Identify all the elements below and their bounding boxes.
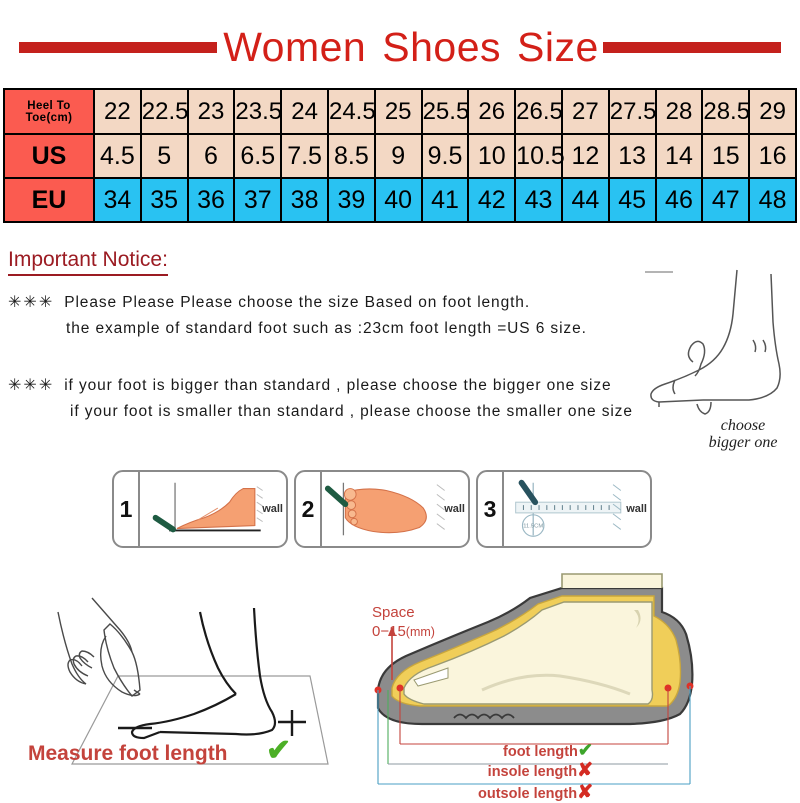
measurement-steps: 1 wall 2 <box>112 470 652 548</box>
space-label-line-1: Space <box>372 604 435 623</box>
cell-us-5: 8.5 <box>328 134 375 178</box>
cell-eu-8: 42 <box>468 178 515 222</box>
insole-length-label: insole length <box>488 764 577 780</box>
page-title-row: WomenShoesSize <box>0 22 800 72</box>
cell-eu-14: 48 <box>749 178 796 222</box>
step-box-1: 1 wall <box>112 470 288 548</box>
ruler-value-label: 11.5CM <box>523 523 543 529</box>
notice-bullet-icon: ✳✳✳ <box>8 294 54 311</box>
outsole-length-label: outsole length <box>478 786 577 802</box>
cell-eu-0: 34 <box>94 178 141 222</box>
cell-us-6: 9 <box>375 134 422 178</box>
step-3-wall-label: wall <box>626 503 647 515</box>
step-number-3: 3 <box>478 472 504 546</box>
measure-foot-length-label: Measure foot length <box>28 742 228 766</box>
cell-us-4: 7.5 <box>281 134 328 178</box>
cell-cm-8: 26 <box>468 89 515 134</box>
cell-us-9: 10.5 <box>515 134 562 178</box>
cell-cm-0: 22 <box>94 89 141 134</box>
cell-eu-1: 35 <box>141 178 188 222</box>
cell-eu-2: 36 <box>188 178 235 222</box>
cell-us-12: 14 <box>656 134 703 178</box>
cell-us-13: 15 <box>702 134 749 178</box>
table-row-eu: EU 34 35 36 37 38 39 40 41 42 43 44 45 4… <box>4 178 796 222</box>
cell-cm-4: 24 <box>281 89 328 134</box>
cell-us-8: 10 <box>468 134 515 178</box>
space-label-line-2: 0−15 <box>372 623 406 640</box>
row-header-us: US <box>4 134 94 178</box>
title-word-size: Size <box>517 24 599 70</box>
step-2-wall-label: wall <box>444 503 465 515</box>
cell-cm-7: 25.5 <box>422 89 469 134</box>
caption-line-1: choose <box>688 418 798 435</box>
table-row-heel-to-toe: Heel To Toe(cm) 22 22.5 23 23.5 24 24.5 … <box>4 89 796 134</box>
notice-block-2: ✳✳✳if your foot is bigger than standard … <box>8 375 633 429</box>
caption-line-2: bigger one <box>688 435 798 452</box>
cell-cm-3: 23.5 <box>234 89 281 134</box>
step-number-1: 1 <box>114 472 140 546</box>
title-accent-bar-right <box>603 42 781 53</box>
title-word-women: Women <box>223 24 366 70</box>
cell-eu-11: 45 <box>609 178 656 222</box>
cell-cm-11: 27.5 <box>609 89 656 134</box>
notice-text-1: Please Please Please choose the size Bas… <box>64 294 530 311</box>
title-word-shoes: Shoes <box>382 24 501 70</box>
space-unit: (mm) <box>406 625 435 639</box>
cell-cm-2: 23 <box>188 89 235 134</box>
insole-length-cross-icon: ✘ <box>577 760 593 781</box>
shoe-length-labels: foot length✔ insole length✘ outsole leng… <box>478 740 593 803</box>
cell-us-11: 13 <box>609 134 656 178</box>
notice-line-2: the example of standard foot such as :23… <box>8 320 587 338</box>
notice-line-3: ✳✳✳if your foot is bigger than standard … <box>8 375 633 395</box>
page-title: WomenShoesSize <box>223 24 599 71</box>
notice-line-1: ✳✳✳Please Please Please choose the size … <box>8 292 587 312</box>
step-1-wall-label: wall <box>262 503 283 515</box>
foot-sketch-caption: choose bigger one <box>688 418 798 452</box>
table-row-us: US 4.5 5 6 6.5 7.5 8.5 9 9.5 10 10.5 12 … <box>4 134 796 178</box>
title-accent-bar-left <box>19 42 217 53</box>
step-1-illustration: wall <box>140 472 286 546</box>
cell-eu-3: 37 <box>234 178 281 222</box>
space-gap-label: Space 0−15(mm) <box>372 604 435 642</box>
cell-eu-9: 43 <box>515 178 562 222</box>
cell-eu-7: 41 <box>422 178 469 222</box>
cell-us-1: 5 <box>141 134 188 178</box>
measure-check-icon: ✔ <box>266 736 291 766</box>
cell-eu-10: 44 <box>562 178 609 222</box>
size-chart-table: Heel To Toe(cm) 22 22.5 23 23.5 24 24.5 … <box>3 88 797 223</box>
cell-us-3: 6.5 <box>234 134 281 178</box>
step-box-2: 2 wall <box>294 470 470 548</box>
cell-us-10: 12 <box>562 134 609 178</box>
foot-length-check-icon: ✔ <box>578 740 593 760</box>
cell-cm-12: 28 <box>656 89 703 134</box>
foot-length-row: foot length✔ <box>478 740 593 760</box>
cell-us-2: 6 <box>188 134 235 178</box>
step-number-2: 2 <box>296 472 322 546</box>
cell-eu-13: 47 <box>702 178 749 222</box>
notice-text-3: if your foot is bigger than standard , p… <box>64 377 611 394</box>
cell-us-0: 4.5 <box>94 134 141 178</box>
cell-eu-12: 46 <box>656 178 703 222</box>
cell-us-7: 9.5 <box>422 134 469 178</box>
insole-length-row: insole length✘ <box>478 760 593 781</box>
cell-cm-10: 27 <box>562 89 609 134</box>
cell-cm-14: 29 <box>749 89 796 134</box>
step-2-illustration: wall <box>322 472 468 546</box>
notice-block-1: ✳✳✳Please Please Please choose the size … <box>8 292 587 346</box>
row-header-heel-to-toe: Heel To Toe(cm) <box>4 89 94 134</box>
cell-cm-6: 25 <box>375 89 422 134</box>
notice-line-4: if your foot is smaller than standard , … <box>8 403 633 421</box>
step-box-3: 3 11.5CM <box>476 470 652 548</box>
cell-cm-9: 26.5 <box>515 89 562 134</box>
cell-eu-4: 38 <box>281 178 328 222</box>
cell-us-14: 16 <box>749 134 796 178</box>
notice-bullet-icon-2: ✳✳✳ <box>8 377 54 394</box>
cell-cm-13: 28.5 <box>702 89 749 134</box>
cell-eu-5: 39 <box>328 178 375 222</box>
important-notice-heading: Important Notice: <box>8 248 168 276</box>
outsole-length-cross-icon: ✘ <box>577 782 593 803</box>
row-header-eu: EU <box>4 178 94 222</box>
cell-cm-5: 24.5 <box>328 89 375 134</box>
step-3-illustration: 11.5CM wall <box>504 472 650 546</box>
cell-cm-1: 22.5 <box>141 89 188 134</box>
cell-eu-6: 40 <box>375 178 422 222</box>
foot-length-label: foot length <box>503 744 578 760</box>
